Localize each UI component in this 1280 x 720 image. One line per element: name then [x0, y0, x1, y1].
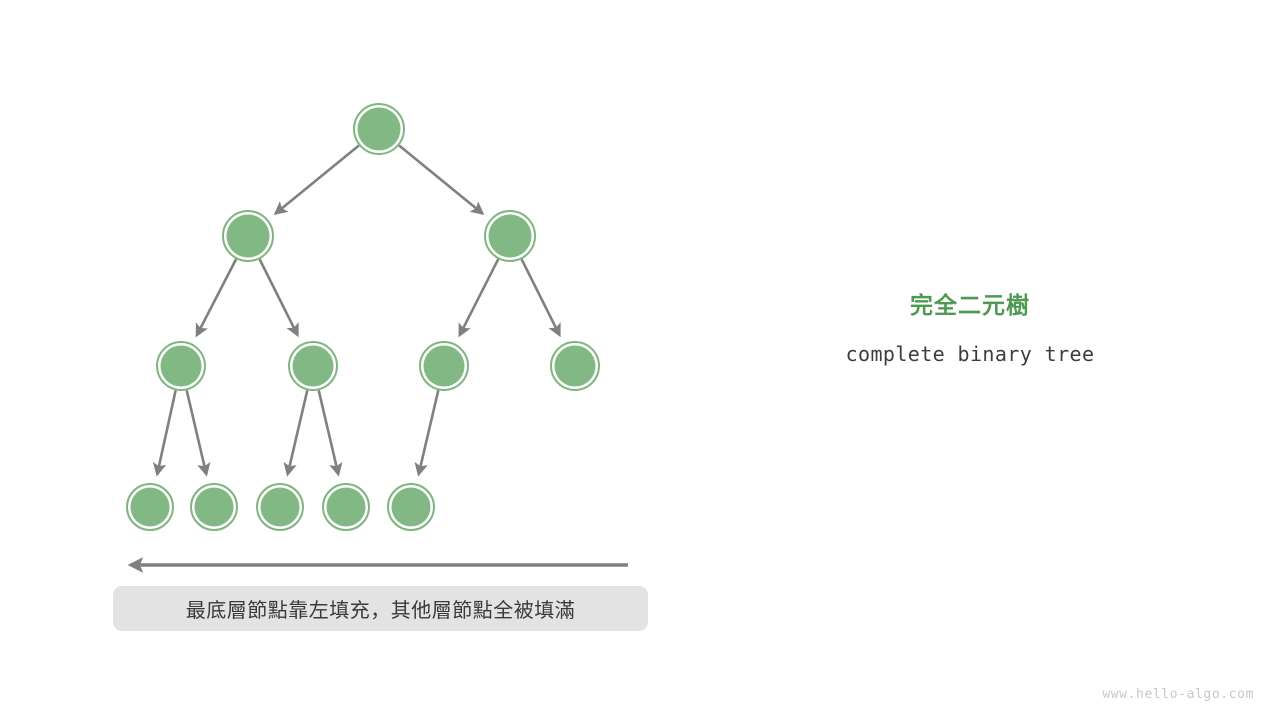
- legend-title: 完全二元樹: [790, 292, 1150, 322]
- tree-edge: [276, 145, 359, 213]
- tree-node: [127, 484, 173, 530]
- tree-node: [257, 484, 303, 530]
- tree-node-fill: [131, 488, 170, 527]
- tree-edge: [197, 259, 236, 335]
- tree-node-fill: [555, 346, 596, 387]
- tree-edge: [157, 390, 175, 473]
- tree-node: [191, 484, 237, 530]
- legend-subtitle: complete binary tree: [790, 342, 1150, 366]
- watermark-label: www.hello-algo.com: [1102, 687, 1254, 702]
- tree-edge: [419, 390, 439, 474]
- tree-node-fill: [293, 346, 334, 387]
- tree-node-fill: [161, 346, 202, 387]
- tree-nodes: [127, 104, 599, 530]
- tree-edge: [522, 259, 560, 334]
- tree-node-fill: [327, 488, 366, 527]
- tree-node: [223, 211, 273, 261]
- tree-edge: [288, 390, 308, 474]
- caption-label: 最底層節點靠左填充，其他層節點全被填滿: [186, 594, 576, 623]
- tree-node: [388, 484, 434, 530]
- tree-edge: [460, 259, 498, 335]
- tree-edge: [260, 259, 298, 334]
- tree-node: [157, 342, 205, 390]
- tree-node: [420, 342, 468, 390]
- tree-node: [485, 211, 535, 261]
- caption-banner: 最底層節點靠左填充，其他層節點全被填滿: [113, 586, 648, 631]
- tree-node-fill: [261, 488, 300, 527]
- tree-edge: [319, 390, 339, 474]
- tree-node-fill: [227, 215, 270, 258]
- tree-node-fill: [489, 215, 532, 258]
- tree-node: [323, 484, 369, 530]
- tree-edge: [399, 145, 482, 213]
- tree-node: [289, 342, 337, 390]
- legend-block: 完全二元樹 complete binary tree: [790, 292, 1150, 366]
- tree-edge: [187, 390, 207, 474]
- tree-node-fill: [358, 108, 401, 151]
- tree-node-fill: [424, 346, 465, 387]
- tree-node: [354, 104, 404, 154]
- diagram-page: 最底層節點靠左填充，其他層節點全被填滿 完全二元樹 complete binar…: [0, 0, 1280, 720]
- tree-node-fill: [392, 488, 431, 527]
- tree-edges: [157, 145, 559, 473]
- tree-node-fill: [195, 488, 234, 527]
- tree-node: [551, 342, 599, 390]
